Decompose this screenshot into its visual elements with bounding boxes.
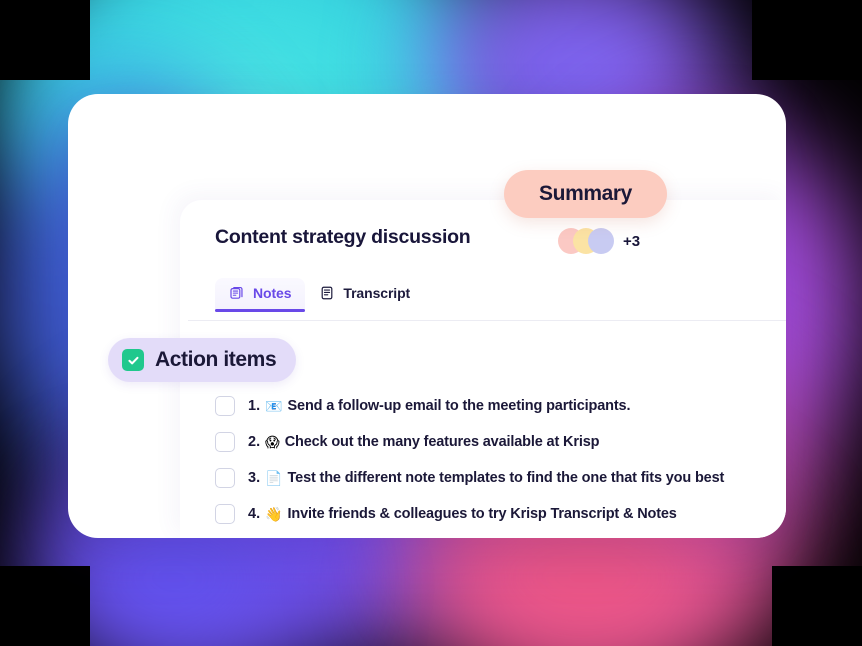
- list-item[interactable]: 2. 😱 Check out the many features availab…: [215, 424, 776, 460]
- corner-mask-bottom-left: [0, 566, 90, 646]
- summary-badge[interactable]: Summary: [504, 170, 667, 218]
- page-emoji: 📄: [265, 471, 282, 485]
- item-checkbox[interactable]: [215, 432, 235, 452]
- transcript-icon: [319, 285, 335, 301]
- item-text: Invite friends & colleagues to try Krisp…: [288, 506, 677, 522]
- tab-notes-label: Notes: [253, 285, 291, 301]
- item-checkbox[interactable]: [215, 396, 235, 416]
- tab-transcript[interactable]: Transcript: [305, 278, 424, 310]
- action-items-badge[interactable]: Action items: [108, 338, 296, 382]
- tab-notes[interactable]: Notes: [215, 278, 305, 310]
- item-number: 1.: [248, 398, 260, 414]
- participants-more-count[interactable]: +3: [623, 233, 640, 250]
- action-items-list: 1. 📧 Send a follow-up email to the meeti…: [215, 388, 776, 532]
- item-checkbox[interactable]: [215, 504, 235, 524]
- email-emoji: 📧: [265, 399, 282, 413]
- corner-mask-bottom-right: [772, 566, 862, 646]
- summary-badge-label: Summary: [539, 182, 632, 206]
- item-text: Test the different note templates to fin…: [288, 470, 725, 486]
- tab-transcript-label: Transcript: [343, 285, 410, 301]
- item-text: Send a follow-up email to the meeting pa…: [288, 398, 631, 414]
- meeting-title: Content strategy discussion: [215, 226, 470, 249]
- waving-hand-emoji: 👋: [265, 507, 282, 521]
- participants-group[interactable]: +3: [558, 228, 640, 254]
- list-item[interactable]: 3. 📄 Test the different note templates t…: [215, 460, 776, 496]
- tab-divider: [188, 320, 786, 321]
- scream-emoji: 😱: [265, 435, 280, 449]
- action-items-label: Action items: [155, 348, 276, 372]
- list-item[interactable]: 1. 📧 Send a follow-up email to the meeti…: [215, 388, 776, 424]
- list-item[interactable]: 4. 👋 Invite friends & colleagues to try …: [215, 496, 776, 532]
- item-checkbox[interactable]: [215, 468, 235, 488]
- tab-bar: Notes Transcript: [215, 278, 424, 310]
- meeting-notes-card: Content strategy discussion +3 Notes: [68, 94, 786, 538]
- corner-mask-top-right: [752, 0, 862, 80]
- avatar[interactable]: [588, 228, 614, 254]
- item-number: 4.: [248, 506, 260, 522]
- item-number: 2.: [248, 434, 260, 450]
- item-text: Check out the many features available at…: [285, 434, 600, 450]
- panel-header: Content strategy discussion +3: [180, 200, 786, 278]
- item-number: 3.: [248, 470, 260, 486]
- checkmark-icon: [122, 349, 144, 371]
- notes-icon: [229, 285, 245, 301]
- corner-mask-top-left: [0, 0, 90, 80]
